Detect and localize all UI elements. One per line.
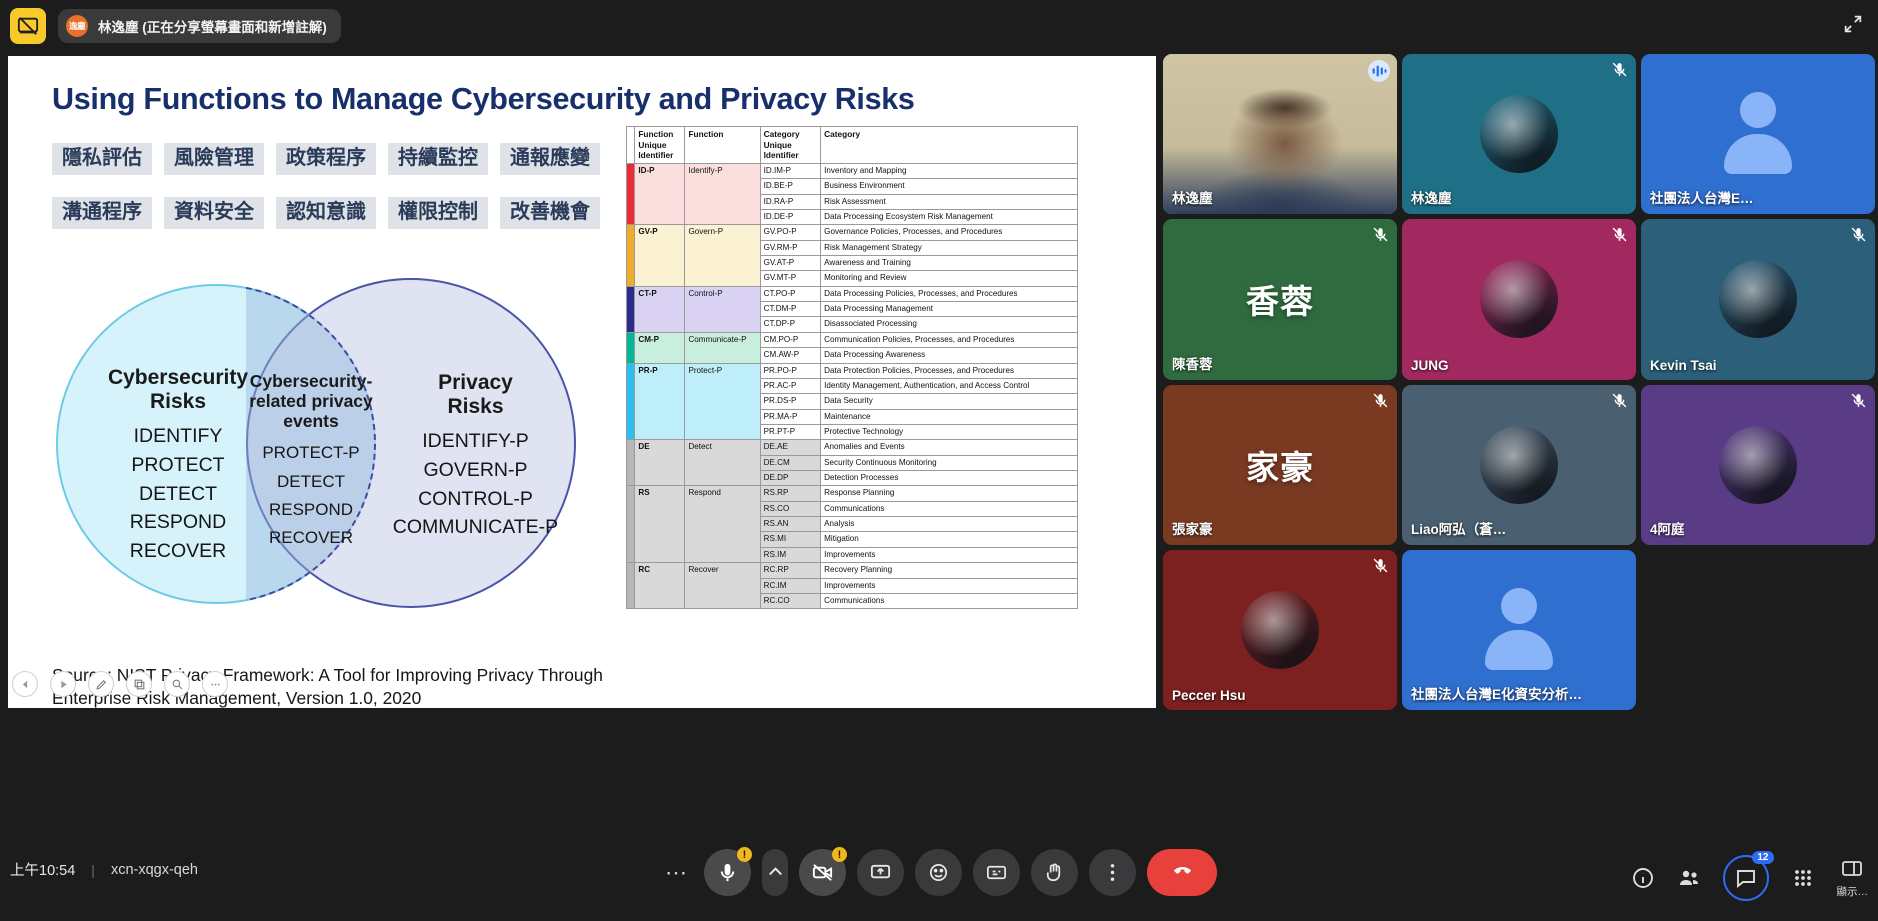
chip-policy-procedure: 政策程序	[276, 143, 376, 175]
page-title: Using Functions to Manage Cybersecurity …	[52, 82, 1112, 117]
divider: |	[91, 862, 95, 878]
fullscreen-edit-icon[interactable]	[1842, 13, 1864, 40]
venn-diagram: Cybersecurity Risks IDENTIFY PROTECT DET…	[38, 266, 618, 666]
pen-button[interactable]	[88, 671, 114, 697]
participant-name: 林逸塵	[1411, 187, 1452, 207]
col-category: Category	[821, 127, 1078, 164]
table-row: CT-PControl-PCT.PO-PData Processing Poli…	[627, 286, 1078, 301]
clock-text: 上午10:54	[10, 859, 75, 880]
participant-avatar-photo	[1480, 95, 1558, 173]
cell-category: Analysis	[821, 517, 1078, 532]
table-row: PR-PProtect-PPR.PO-PData Protection Poli…	[627, 363, 1078, 378]
table-row: RSRespondRS.RPResponse Planning	[627, 486, 1078, 501]
cell-category: Inventory and Mapping	[821, 163, 1078, 178]
cell-category-unique-identifier: RC.RP	[760, 563, 821, 578]
cell-category: Detection Processes	[821, 471, 1078, 486]
cell-category: Communications	[821, 501, 1078, 516]
cell-function: Recover	[685, 563, 760, 609]
sharing-status-pill[interactable]: 逸塵 林逸塵 (正在分享螢幕畫面和新增註解)	[58, 9, 341, 43]
cell-category-unique-identifier: RC.CO	[760, 593, 821, 608]
cell-category: Awareness and Training	[821, 255, 1078, 270]
captions-button[interactable]	[973, 849, 1020, 896]
chip-risk-management: 風險管理	[164, 143, 264, 175]
cell-category-unique-identifier: RS.CO	[760, 501, 821, 516]
function-color-stripe	[627, 563, 635, 609]
cell-category: Protective Technology	[821, 424, 1078, 439]
cell-category-unique-identifier: ID.IM-P	[760, 163, 821, 178]
cell-category-unique-identifier: CT.PO-P	[760, 286, 821, 301]
participant-avatar-photo	[1480, 426, 1558, 504]
cell-function: Govern-P	[685, 225, 760, 286]
mic-muted-icon	[1372, 392, 1389, 409]
table-body: ID-PIdentify-PID.IM-PInventory and Mappi…	[627, 163, 1078, 608]
cell-function-unique-identifier: DE	[635, 440, 685, 486]
cell-category-unique-identifier: CT.DM-P	[760, 302, 821, 317]
participant-tile[interactable]: JUNG	[1402, 219, 1636, 379]
cell-category-unique-identifier: PR.PT-P	[760, 424, 821, 439]
cell-function-unique-identifier: PR-P	[635, 363, 685, 440]
cell-function-unique-identifier: ID-P	[635, 163, 685, 224]
function-color-stripe	[627, 363, 635, 440]
cell-category: Anomalies and Events	[821, 440, 1078, 455]
venn-right-item: COMMUNICATE-P	[368, 513, 583, 542]
participant-initials: 香蓉	[1246, 275, 1314, 323]
cell-category-unique-identifier: GV.AT-P	[760, 255, 821, 270]
more-options-button[interactable]	[202, 671, 228, 697]
venn-right-item: IDENTIFY-P	[368, 427, 583, 456]
cell-category-unique-identifier: ID.RA-P	[760, 194, 821, 209]
cell-category: Communications	[821, 593, 1078, 608]
sharing-status-text: 林逸塵 (正在分享螢幕畫面和新增註解)	[98, 16, 327, 36]
top-bar-right-actions	[1842, 13, 1868, 40]
speaking-indicator-icon	[1368, 60, 1390, 82]
cell-category: Business Environment	[821, 179, 1078, 194]
camera-warning-badge: !	[832, 847, 847, 862]
play-button[interactable]	[50, 671, 76, 697]
bottom-bar-right-actions: 12 顯示…	[1631, 855, 1869, 901]
venn-middle-item: RECOVER	[236, 524, 386, 552]
ellipsis-icon[interactable]: ⋯	[661, 860, 693, 886]
cell-function-unique-identifier: CT-P	[635, 286, 685, 332]
chat-button[interactable]: 12	[1723, 855, 1769, 901]
table-row: GV-PGovern-PGV.PO-PGovernance Policies, …	[627, 225, 1078, 240]
participant-tile[interactable]: Peccer Hsu	[1163, 550, 1397, 710]
cell-category: Risk Assessment	[821, 194, 1078, 209]
meeting-details-button[interactable]	[1631, 866, 1655, 890]
chip-row-1: 隱私評估 風險管理 政策程序 持續監控 通報應變	[52, 143, 600, 175]
chip-privacy-assessment: 隱私評估	[52, 143, 152, 175]
more-options-button[interactable]	[1089, 849, 1136, 896]
cell-category-unique-identifier: RS.RP	[760, 486, 821, 501]
participant-tile[interactable]: 家豪 張家豪	[1163, 385, 1397, 545]
participant-name: 陳香蓉	[1172, 353, 1213, 373]
participant-name: 社團法人台灣E化資安分析…	[1411, 683, 1582, 703]
annotation-toolbar	[12, 671, 228, 697]
prev-slide-button[interactable]	[12, 671, 38, 697]
participant-name: 社團法人台灣E…	[1650, 187, 1754, 207]
cell-category-unique-identifier: CT.DP-P	[760, 317, 821, 332]
cell-category-unique-identifier: PR.DS-P	[760, 394, 821, 409]
cell-category: Data Security	[821, 394, 1078, 409]
chip-row-2: 溝通程序 資料安全 認知意識 權限控制 改善機會	[52, 197, 600, 229]
mic-muted-icon	[1850, 226, 1867, 243]
mic-muted-icon	[1372, 392, 1389, 409]
raise-hand-button[interactable]	[1031, 849, 1078, 896]
cell-function-unique-identifier: RS	[635, 486, 685, 563]
top-bar: 逸塵 林逸塵 (正在分享螢幕畫面和新增註解)	[0, 0, 1878, 52]
cell-category: Data Processing Management	[821, 302, 1078, 317]
display-options-label: 顯示…	[1837, 884, 1869, 899]
camera-button[interactable]: !	[799, 849, 846, 896]
cell-category-unique-identifier: RS.MI	[760, 532, 821, 547]
cell-category: Governance Policies, Processes, and Proc…	[821, 225, 1078, 240]
microphone-options-button[interactable]	[762, 849, 788, 896]
color-stripe-header	[627, 127, 635, 164]
participants-button[interactable]	[1677, 866, 1701, 890]
cell-function-unique-identifier: RC	[635, 563, 685, 609]
cell-category-unique-identifier: GV.PO-P	[760, 225, 821, 240]
function-color-stripe	[627, 332, 635, 363]
call-controls: ⋯ ! !	[661, 849, 1217, 896]
meeting-window: 逸塵 林逸塵 (正在分享螢幕畫面和新增註解) Using Functions t…	[0, 0, 1878, 921]
magnifier-button[interactable]	[164, 671, 190, 697]
cell-function: Respond	[685, 486, 760, 563]
cell-category: Identity Management, Authentication, and…	[821, 378, 1078, 393]
mic-muted-icon	[1611, 61, 1628, 78]
participant-avatar-photo	[1480, 260, 1558, 338]
table-header: Function Unique Identifier Function Cate…	[627, 127, 1078, 164]
participant-tile[interactable]: 社團法人台灣E化資安分析…	[1402, 550, 1636, 710]
participant-name: JUNG	[1411, 358, 1449, 373]
cell-function: Protect-P	[685, 363, 760, 440]
table-row: CM-PCommunicate-PCM.PO-PCommunication Po…	[627, 332, 1078, 347]
chip-awareness: 認知意識	[276, 197, 376, 229]
shared-screen-slide[interactable]: Using Functions to Manage Cybersecurity …	[8, 56, 1156, 708]
default-avatar-icon	[1471, 582, 1567, 678]
table-row: DEDetectDE.AEAnomalies and Events	[627, 440, 1078, 455]
cell-category-unique-identifier: DE.DP	[760, 471, 821, 486]
venn-right-item: GOVERN-P	[368, 456, 583, 485]
mic-muted-icon	[1611, 392, 1628, 409]
cell-category-unique-identifier: DE.AE	[760, 440, 821, 455]
participant-initials: 家豪	[1246, 441, 1314, 489]
function-color-stripe	[627, 286, 635, 332]
cell-category: Risk Management Strategy	[821, 240, 1078, 255]
cell-category: Maintenance	[821, 409, 1078, 424]
function-color-stripe	[627, 486, 635, 563]
venn-label-privacy: Privacy Risks IDENTIFY-P GOVERN-P CONTRO…	[368, 371, 583, 542]
cell-function: Detect	[685, 440, 760, 486]
cell-function: Communicate-P	[685, 332, 760, 363]
cell-function: Control-P	[685, 286, 760, 332]
meeting-info: 上午10:54 | xcn-xqgx-qeh	[10, 859, 198, 880]
cell-category-unique-identifier: PR.PO-P	[760, 363, 821, 378]
chip-communication-process: 溝通程序	[52, 197, 152, 229]
table-row: ID-PIdentify-PID.IM-PInventory and Mappi…	[627, 163, 1078, 178]
bottom-bar: 上午10:54 | xcn-xqgx-qeh ⋯ ! !	[0, 831, 1878, 921]
mic-muted-icon	[1850, 392, 1867, 409]
cell-category-unique-identifier: CM.AW-P	[760, 348, 821, 363]
mic-muted-icon	[1372, 557, 1389, 574]
venn-middle-heading-line3: events	[236, 411, 386, 431]
cell-category: Improvements	[821, 578, 1078, 593]
reactions-button[interactable]	[915, 849, 962, 896]
mic-muted-icon	[1611, 226, 1628, 243]
participant-tile[interactable]: 林逸塵	[1163, 54, 1397, 214]
venn-middle-item: RESPOND	[236, 496, 386, 524]
cell-category-unique-identifier: ID.BE-P	[760, 179, 821, 194]
cell-category: Communication Policies, Processes, and P…	[821, 332, 1078, 347]
participant-name: Liao阿弘（蒼…	[1411, 518, 1506, 538]
mic-warning-badge: !	[737, 847, 752, 862]
cell-category: Data Processing Awareness	[821, 348, 1078, 363]
mic-muted-icon	[1611, 61, 1628, 78]
cell-category: Data Processing Ecosystem Risk Managemen…	[821, 209, 1078, 224]
chip-data-security: 資料安全	[164, 197, 264, 229]
cell-category-unique-identifier: RS.AN	[760, 517, 821, 532]
participant-name: 林逸塵	[1172, 187, 1213, 207]
mic-muted-icon	[1611, 226, 1628, 243]
participant-tile[interactable]: 4阿庭	[1641, 385, 1875, 545]
col-category-unique-identifier: Category Unique Identifier	[760, 127, 821, 164]
microphone-button[interactable]: !	[704, 849, 751, 896]
chip-continuous-monitoring: 持續監控	[388, 143, 488, 175]
participant-tile[interactable]: Liao阿弘（蒼…	[1402, 385, 1636, 545]
col-function: Function	[685, 127, 760, 164]
mic-muted-icon	[1850, 392, 1867, 409]
cell-category-unique-identifier: RS.IM	[760, 547, 821, 562]
cell-category-unique-identifier: GV.MT-P	[760, 271, 821, 286]
mic-muted-icon	[1611, 392, 1628, 409]
cell-function-unique-identifier: GV-P	[635, 225, 685, 286]
speaking-indicator-icon	[1368, 60, 1390, 82]
leave-call-button[interactable]	[1147, 849, 1217, 896]
cell-function: Identify-P	[685, 163, 760, 224]
cell-category-unique-identifier: ID.DE-P	[760, 209, 821, 224]
col-function-unique-identifier: Function Unique Identifier	[635, 127, 685, 164]
mic-muted-icon	[1372, 557, 1389, 574]
participant-name: 張家豪	[1172, 518, 1213, 538]
cell-category: Monitoring and Review	[821, 271, 1078, 286]
cell-category-unique-identifier: PR.AC-P	[760, 378, 821, 393]
chip-incident-response: 通報應變	[500, 143, 600, 175]
function-color-stripe	[627, 163, 635, 224]
cell-category: Mitigation	[821, 532, 1078, 547]
venn-middle-heading-line2: related privacy	[236, 391, 386, 411]
meeting-code-text: xcn-xqgx-qeh	[111, 862, 198, 878]
venn-middle-item: DETECT	[236, 468, 386, 496]
participant-avatar-photo	[1719, 260, 1797, 338]
cell-category-unique-identifier: GV.RM-P	[760, 240, 821, 255]
participant-avatar-photo	[1719, 426, 1797, 504]
venn-label-overlap: Cybersecurity- related privacy events PR…	[236, 371, 386, 552]
default-avatar-icon	[1710, 86, 1806, 182]
avatar: 逸塵	[66, 15, 88, 37]
table-row: RCRecoverRC.RPRecovery Planning	[627, 563, 1078, 578]
participant-tile[interactable]: 林逸塵	[1402, 54, 1636, 214]
cell-category-unique-identifier: PR.MA-P	[760, 409, 821, 424]
chip-improvement-opportunity: 改善機會	[500, 197, 600, 229]
cell-category: Improvements	[821, 547, 1078, 562]
venn-right-heading-line2: Risks	[368, 395, 583, 419]
participant-tile[interactable]: Kevin Tsai	[1641, 219, 1875, 379]
participant-name: Peccer Hsu	[1172, 688, 1246, 703]
activities-button[interactable]	[1791, 866, 1815, 890]
present-screen-button[interactable]	[857, 849, 904, 896]
mic-muted-icon	[1372, 226, 1389, 243]
participant-name: Kevin Tsai	[1650, 358, 1717, 373]
venn-middle-item: PROTECT-P	[236, 439, 386, 467]
cell-category: Data Processing Policies, Processes, and…	[821, 286, 1078, 301]
venn-middle-heading-line1: Cybersecurity-	[236, 371, 386, 391]
participant-tile[interactable]: 社團法人台灣E…	[1641, 54, 1875, 214]
cell-category-unique-identifier: DE.CM	[760, 455, 821, 470]
nist-framework-table: Function Unique Identifier Function Cate…	[626, 126, 1078, 609]
cell-category: Security Continuous Monitoring	[821, 455, 1078, 470]
venn-right-heading-line1: Privacy	[368, 371, 583, 395]
cell-category: Response Planning	[821, 486, 1078, 501]
cell-category-unique-identifier: RC.IM	[760, 578, 821, 593]
chat-unread-count: 12	[1752, 851, 1773, 864]
venn-right-item: CONTROL-P	[368, 485, 583, 514]
cell-category-unique-identifier: CM.PO-P	[760, 332, 821, 347]
function-color-stripe	[627, 225, 635, 286]
participant-avatar-photo	[1241, 591, 1319, 669]
participant-name: 4阿庭	[1650, 518, 1685, 538]
cell-function-unique-identifier: CM-P	[635, 332, 685, 363]
cell-category: Data Protection Policies, Processes, and…	[821, 363, 1078, 378]
screen-share-stop-icon[interactable]	[10, 8, 46, 44]
display-options-button[interactable]: 顯示…	[1837, 858, 1869, 899]
stamp-button[interactable]	[126, 671, 152, 697]
mic-muted-icon	[1850, 226, 1867, 243]
function-color-stripe	[627, 440, 635, 486]
cell-category: Disassociated Processing	[821, 317, 1078, 332]
chip-access-control: 權限控制	[388, 197, 488, 229]
participant-grid: 林逸塵 林逸塵 社團法人台灣E…香蓉 陳香蓉 JUNG Kevin Tsai家豪…	[1163, 54, 1875, 710]
mic-muted-icon	[1372, 226, 1389, 243]
cell-category: Recovery Planning	[821, 563, 1078, 578]
participant-tile[interactable]: 香蓉 陳香蓉	[1163, 219, 1397, 379]
